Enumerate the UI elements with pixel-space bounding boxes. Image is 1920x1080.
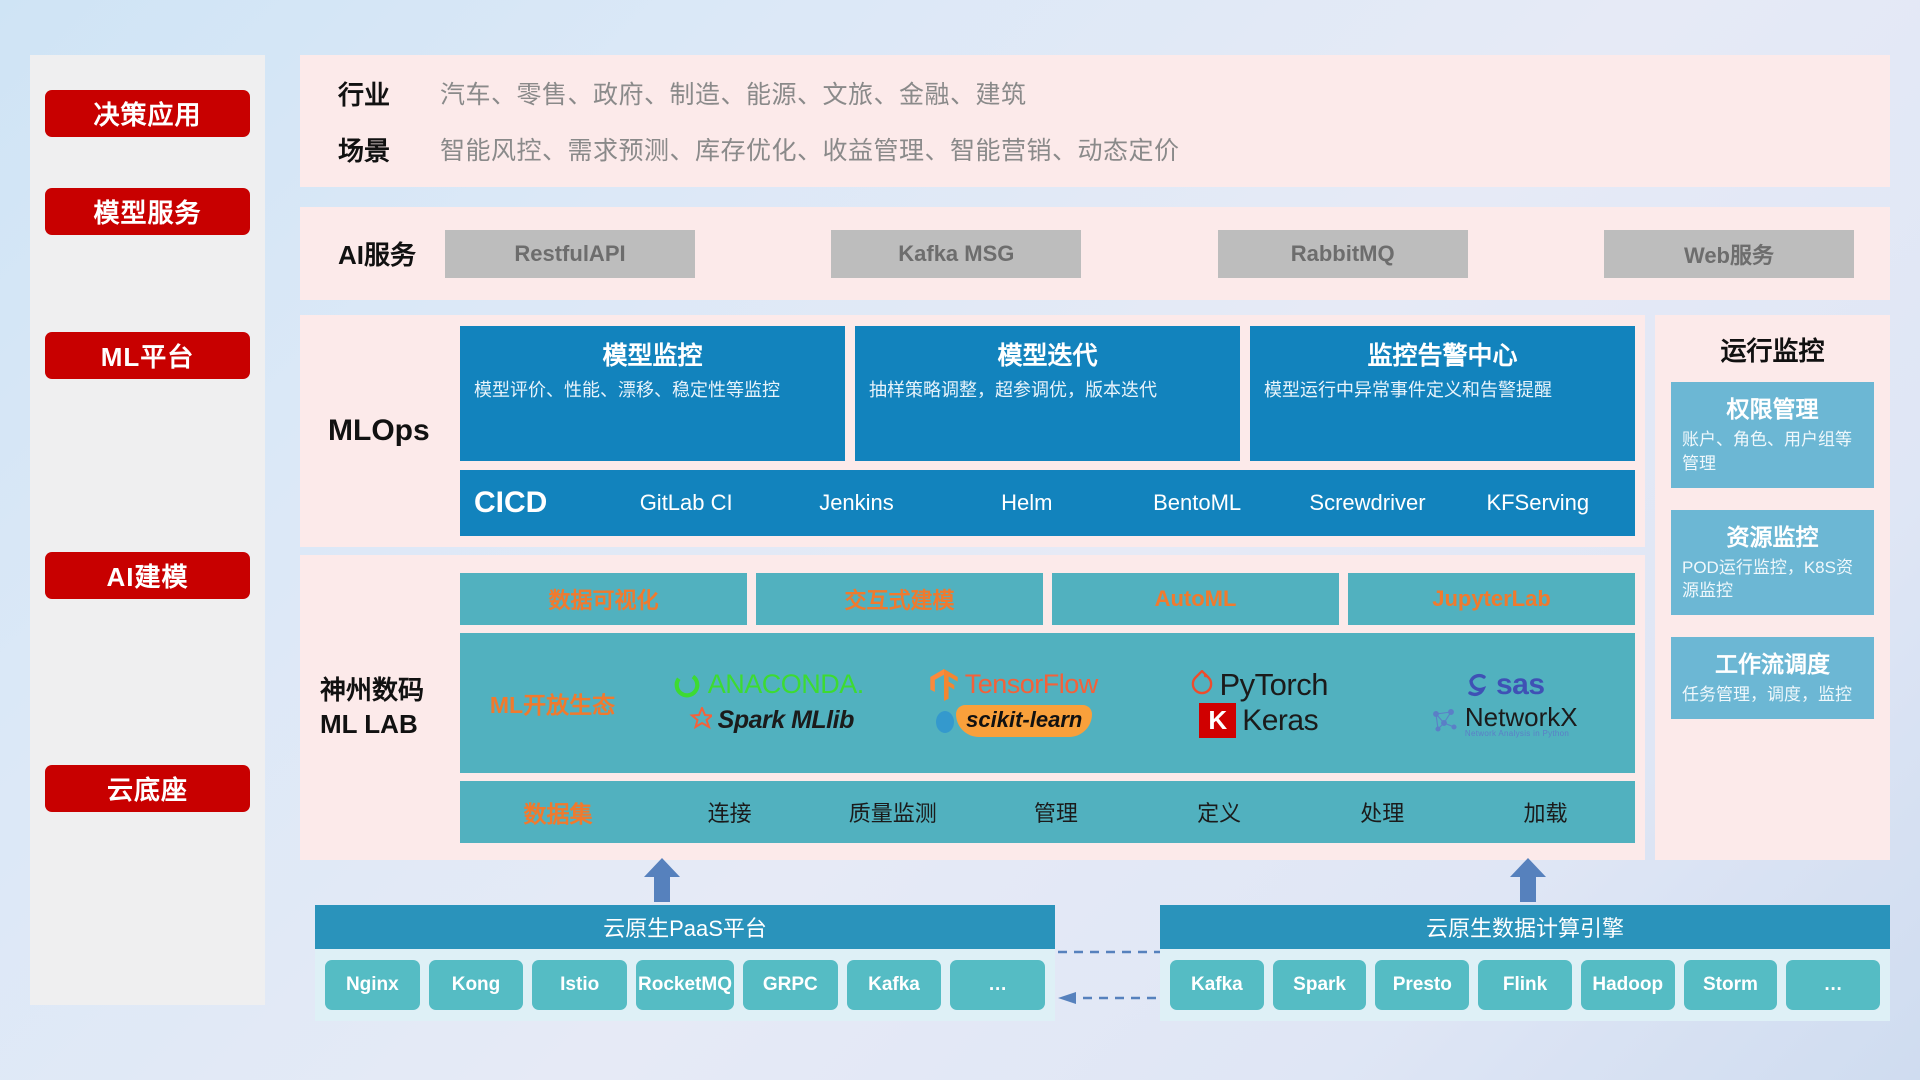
service-chip-web-service[interactable]: Web服务 — [1604, 230, 1854, 278]
service-chip-rabbitmq[interactable]: RabbitMQ — [1218, 230, 1468, 278]
spark-mllib-logo-text: Spark MLlib — [718, 706, 854, 735]
cicd-item-kfserving[interactable]: KFServing — [1455, 492, 1621, 514]
mlops-card-model-monitoring[interactable]: 模型监控 模型评价、性能、漂移、稳定性等监控 — [460, 326, 845, 461]
lab-tool-jupyterlab[interactable]: JupyterLab — [1348, 573, 1635, 625]
sas-logo-text: sas — [1496, 668, 1545, 702]
card-title: 权限管理 — [1682, 390, 1863, 424]
engine-chip-spark[interactable]: Spark — [1273, 960, 1367, 1010]
card-desc: 账户、角色、用户组等管理 — [1682, 428, 1863, 476]
card-desc: 任务管理，调度，监控 — [1682, 683, 1863, 707]
monitor-card-permission[interactable]: 权限管理 账户、角色、用户组等管理 — [1671, 382, 1874, 488]
ml-lab-label: 神州数码 ML LAB — [300, 674, 460, 742]
card-title: 监控告警中心 — [1264, 336, 1621, 372]
sidebar-item-ml-platform[interactable]: ML平台 — [45, 332, 250, 379]
cicd-item-jenkins[interactable]: Jenkins — [773, 492, 939, 514]
paas-chip-more[interactable]: … — [950, 960, 1045, 1010]
cloud-engine-title: 云原生数据计算引擎 — [1160, 905, 1890, 949]
ml-lab-label-line1: 神州数码 — [320, 674, 460, 708]
scenario-label: 场景 — [300, 131, 440, 168]
service-chip-restfulapi[interactable]: RestfulAPI — [445, 230, 695, 278]
ml-ecosystem-label: ML开放生态 — [460, 686, 645, 720]
ml-ecosystem-row: ML开放生态 ANACONDA. TensorFlow — [460, 633, 1635, 773]
sidebar-item-model-service[interactable]: 模型服务 — [45, 188, 250, 235]
ml-ecosystem-logo-grid: ANACONDA. TensorFlow PyTorch — [645, 667, 1635, 739]
tensorflow-logo-text: TensorFlow — [965, 669, 1098, 700]
engine-chip-hadoop[interactable]: Hadoop — [1581, 960, 1675, 1010]
cicd-item-helm[interactable]: Helm — [944, 492, 1110, 514]
paas-chip-nginx[interactable]: Nginx — [325, 960, 420, 1010]
card-title: 工作流调度 — [1682, 645, 1863, 679]
card-desc: 模型评价、性能、漂移、稳定性等监控 — [474, 378, 831, 404]
anaconda-logo-text: ANACONDA. — [708, 669, 864, 700]
rail-label: ML平台 — [101, 337, 195, 374]
lab-tool-interactive-modeling[interactable]: 交互式建模 — [756, 573, 1043, 625]
ai-service-label: AI服务 — [300, 235, 445, 272]
cloud-paas-title: 云原生PaaS平台 — [315, 905, 1055, 949]
scikit-learn-logo: scikit-learn — [934, 705, 1092, 737]
engine-chip-storm[interactable]: Storm — [1684, 960, 1778, 1010]
paas-chip-rocketmq[interactable]: RocketMQ — [636, 960, 734, 1010]
dataset-item-quality[interactable]: 质量监测 — [811, 796, 974, 828]
rail-label: AI建模 — [106, 557, 188, 594]
layer-rail: 决策应用 模型服务 ML平台 AI建模 云底座 — [30, 55, 265, 1005]
rail-label: 模型服务 — [93, 193, 201, 230]
networkx-logo: NetworkX Network Analysis in Python — [1431, 704, 1578, 738]
paas-chip-istio[interactable]: Istio — [532, 960, 627, 1010]
networkx-logo-text: NetworkX — [1465, 704, 1578, 730]
spark-mllib-logo: Spark MLlib — [682, 706, 854, 735]
lab-tool-automl[interactable]: AutoML — [1052, 573, 1339, 625]
networkx-graph-icon — [1431, 707, 1459, 735]
cloud-paas-chip-list: Nginx Kong Istio RocketMQ GRPC Kafka … — [315, 949, 1055, 1021]
lab-tool-list: 数据可视化 交互式建模 AutoML JupyterLab — [460, 573, 1635, 625]
pytorch-logo: PyTorch — [1190, 667, 1328, 703]
dataset-item-connect[interactable]: 连接 — [648, 796, 811, 828]
card-desc: POD运行监控，K8S资源监控 — [1682, 556, 1863, 604]
industry-values: 汽车、零售、政府、制造、能源、文旅、金融、建筑 — [440, 75, 1027, 111]
anaconda-icon — [672, 670, 702, 700]
scikit-learn-logo-text: scikit-learn — [956, 705, 1092, 737]
mlops-label: MLOps — [300, 414, 460, 448]
dataset-title: 数据集 — [468, 795, 648, 829]
mlops-card-alert-center[interactable]: 监控告警中心 模型运行中异常事件定义和告警提醒 — [1250, 326, 1635, 461]
anaconda-logo: ANACONDA. — [672, 669, 864, 700]
ml-lab-band: 神州数码 ML LAB 数据可视化 交互式建模 AutoML JupyterLa… — [300, 555, 1645, 860]
paas-chip-grpc[interactable]: GRPC — [743, 960, 838, 1010]
pytorch-icon — [1190, 670, 1214, 700]
engine-chip-flink[interactable]: Flink — [1478, 960, 1572, 1010]
lab-tool-data-visualization[interactable]: 数据可视化 — [460, 573, 747, 625]
scenario-row: 场景 智能风控、需求预测、库存优化、收益管理、智能营销、动态定价 — [300, 125, 1890, 173]
cloud-paas-group: 云原生PaaS平台 Nginx Kong Istio RocketMQ GRPC… — [315, 905, 1055, 1021]
industry-label: 行业 — [300, 75, 440, 112]
keras-logo: K Keras — [1199, 703, 1318, 738]
service-chip-kafka-msg[interactable]: Kafka MSG — [831, 230, 1081, 278]
paas-chip-kafka[interactable]: Kafka — [847, 960, 942, 1010]
pytorch-logo-text: PyTorch — [1220, 667, 1328, 703]
card-title: 模型迭代 — [869, 336, 1226, 372]
cicd-item-screwdriver[interactable]: Screwdriver — [1284, 492, 1450, 514]
runtime-monitor-column: 运行监控 权限管理 账户、角色、用户组等管理 资源监控 POD运行监控，K8S资… — [1655, 315, 1890, 860]
keras-k-icon: K — [1199, 703, 1236, 738]
rail-label: 云底座 — [107, 770, 188, 807]
scenario-values: 智能风控、需求预测、库存优化、收益管理、智能营销、动态定价 — [440, 131, 1180, 167]
monitor-card-resource[interactable]: 资源监控 POD运行监控，K8S资源监控 — [1671, 510, 1874, 616]
arrow-up-paas-icon — [640, 858, 684, 902]
paas-chip-kong[interactable]: Kong — [429, 960, 524, 1010]
dataset-item-manage[interactable]: 管理 — [974, 796, 1137, 828]
cicd-item-bentoml[interactable]: BentoML — [1114, 492, 1280, 514]
mlops-band: MLOps 模型监控 模型评价、性能、漂移、稳定性等监控 模型迭代 抽样策略调整… — [300, 315, 1645, 547]
card-desc: 模型运行中异常事件定义和告警提醒 — [1264, 378, 1621, 404]
arrow-up-engine-icon — [1506, 858, 1550, 902]
runtime-monitor-title: 运行监控 — [1671, 331, 1874, 368]
sidebar-item-cloud-base[interactable]: 云底座 — [45, 765, 250, 812]
card-title: 模型监控 — [474, 336, 831, 372]
ai-service-band: AI服务 RestfulAPI Kafka MSG RabbitMQ Web服务 — [300, 207, 1890, 300]
engine-chip-more[interactable]: … — [1786, 960, 1880, 1010]
sas-logo: sas — [1464, 668, 1545, 702]
tensorflow-logo: TensorFlow — [929, 669, 1098, 701]
engine-chip-presto[interactable]: Presto — [1375, 960, 1469, 1010]
cloud-engine-chip-list: Kafka Spark Presto Flink Hadoop Storm … — [1160, 949, 1890, 1021]
monitor-card-workflow[interactable]: 工作流调度 任务管理，调度，监控 — [1671, 637, 1874, 719]
rail-label: 决策应用 — [93, 95, 201, 132]
card-title: 资源监控 — [1682, 518, 1863, 552]
cloud-engine-group: 云原生数据计算引擎 Kafka Spark Presto Flink Hadoo… — [1160, 905, 1890, 1021]
dataset-item-load[interactable]: 加载 — [1464, 796, 1627, 828]
spark-star-icon — [682, 707, 712, 735]
application-band: 行业 汽车、零售、政府、制造、能源、文旅、金融、建筑 场景 智能风控、需求预测、… — [300, 55, 1890, 187]
sidebar-item-decision-app[interactable]: 决策应用 — [45, 90, 250, 137]
sas-icon — [1464, 672, 1490, 698]
ml-lab-label-line2: ML LAB — [320, 708, 460, 742]
networkx-tagline: Network Analysis in Python — [1465, 730, 1578, 738]
engine-chip-kafka[interactable]: Kafka — [1170, 960, 1264, 1010]
card-desc: 抽样策略调整，超参调优，版本迭代 — [869, 378, 1226, 404]
mlops-card-model-iteration[interactable]: 模型迭代 抽样策略调整，超参调优，版本迭代 — [855, 326, 1240, 461]
tensorflow-icon — [929, 669, 959, 701]
dataset-row: 数据集 连接 质量监测 管理 定义 处理 加载 — [460, 781, 1635, 843]
ai-service-chip-list: RestfulAPI Kafka MSG RabbitMQ Web服务 — [445, 230, 1890, 278]
dataset-item-process[interactable]: 处理 — [1301, 796, 1464, 828]
cicd-title: CICD — [474, 486, 599, 520]
cicd-item-gitlab-ci[interactable]: GitLab CI — [603, 492, 769, 514]
industry-row: 行业 汽车、零售、政府、制造、能源、文旅、金融、建筑 — [300, 69, 1890, 117]
mlops-card-list: 模型监控 模型评价、性能、漂移、稳定性等监控 模型迭代 抽样策略调整，超参调优，… — [460, 326, 1635, 461]
keras-logo-text: Keras — [1242, 704, 1318, 738]
dataset-item-define[interactable]: 定义 — [1138, 796, 1301, 828]
sidebar-item-ai-modeling[interactable]: AI建模 — [45, 552, 250, 599]
cicd-bar: CICD GitLab CI Jenkins Helm BentoML Scre… — [460, 470, 1635, 536]
